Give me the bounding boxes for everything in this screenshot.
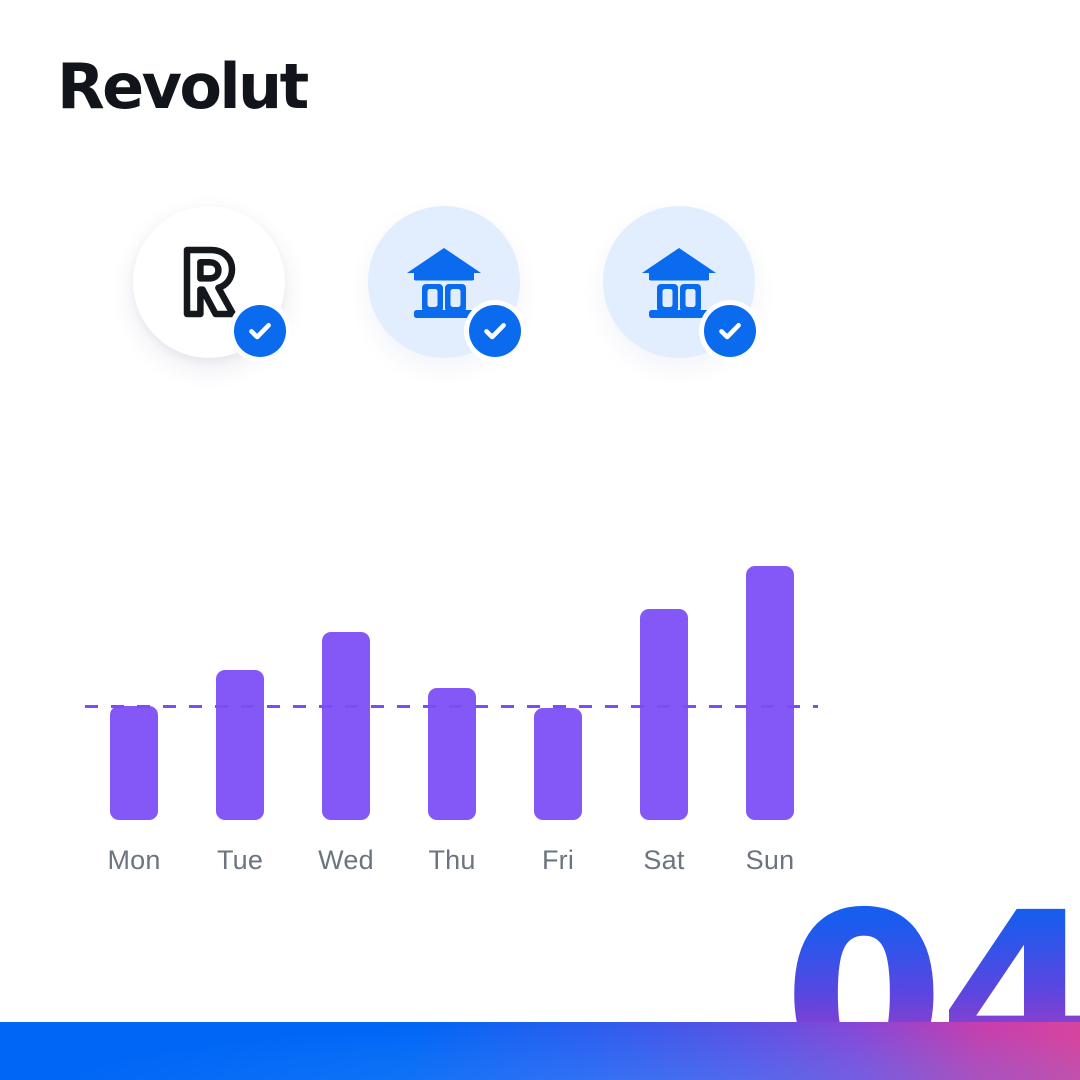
verified-badge	[229, 300, 291, 362]
x-tick-mon: Mon	[74, 843, 194, 877]
check-badge-icon	[469, 305, 521, 357]
linked-accounts-row	[0, 0, 1080, 420]
bar-mon[interactable]	[110, 706, 158, 820]
account-chip-bank-1[interactable]	[368, 206, 520, 358]
verified-badge	[464, 300, 526, 362]
bar-wed[interactable]	[322, 632, 370, 820]
verified-badge	[699, 300, 761, 362]
account-chip-revolut[interactable]	[133, 206, 285, 358]
bar-sun[interactable]	[746, 566, 794, 820]
check-icon	[715, 316, 745, 346]
average-reference-line	[85, 705, 818, 708]
check-badge-icon	[234, 305, 286, 357]
check-icon	[245, 316, 275, 346]
chart-x-axis-labels: MonTueWedThuFriSatSun	[85, 843, 845, 883]
bar-fri[interactable]	[534, 708, 582, 820]
x-tick-wed: Wed	[286, 843, 406, 877]
bar-sat[interactable]	[640, 609, 688, 820]
account-chip-bank-2[interactable]	[603, 206, 755, 358]
check-badge-icon	[704, 305, 756, 357]
footer-gradient-bar	[0, 1022, 1080, 1080]
x-tick-thu: Thu	[392, 843, 512, 877]
x-tick-tue: Tue	[180, 843, 300, 877]
slide-canvas: Revolut	[0, 0, 1080, 1080]
x-tick-sat: Sat	[604, 843, 724, 877]
x-tick-fri: Fri	[498, 843, 618, 877]
bar-tue[interactable]	[216, 670, 264, 820]
check-icon	[480, 316, 510, 346]
